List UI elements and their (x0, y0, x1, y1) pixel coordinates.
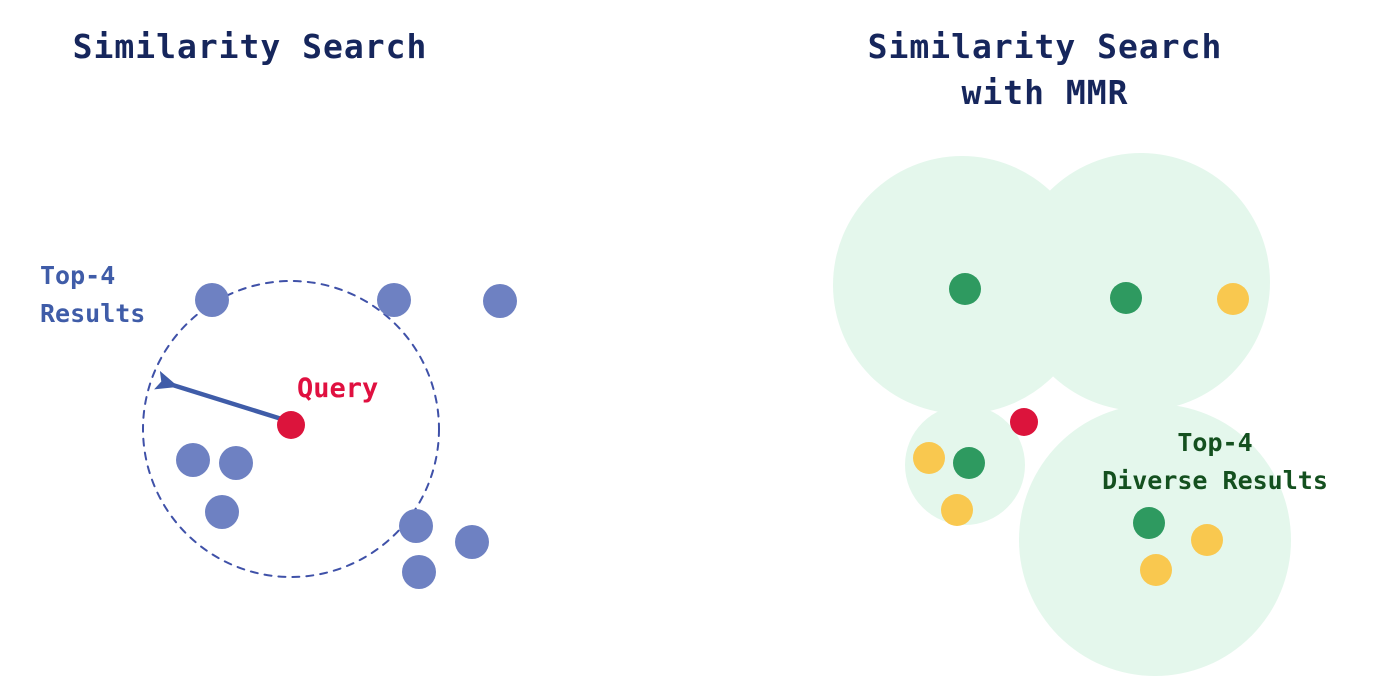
panel-title-similarity-search: Similarity Search (0, 24, 500, 70)
radius-arrow (163, 382, 288, 421)
document-point (205, 495, 239, 529)
label-query: Query (297, 372, 378, 406)
diagram-canvas: Similarity Search Similarity Search with… (0, 0, 1400, 687)
document-point-yellow (1217, 283, 1249, 315)
document-point (399, 509, 433, 543)
document-point-yellow (913, 442, 945, 474)
document-point-yellow (1191, 524, 1223, 556)
document-point-green (949, 273, 981, 305)
label-top-4-diverse-results: Top-4 Diverse Results (1060, 424, 1370, 500)
label-top-4-results: Top-4 Results (40, 257, 230, 333)
document-point (402, 555, 436, 589)
panel-title-similarity-search-mmr: Similarity Search with MMR (795, 24, 1295, 116)
document-point-yellow (1140, 554, 1172, 586)
cluster-blob-top-right (1012, 153, 1270, 411)
document-point (176, 443, 210, 477)
document-point-green (953, 447, 985, 479)
document-point-yellow (941, 494, 973, 526)
document-point-green (1110, 282, 1142, 314)
query-point-right (1010, 408, 1038, 436)
query-point-left (277, 411, 305, 439)
document-point (455, 525, 489, 559)
document-point (377, 283, 411, 317)
document-point (219, 446, 253, 480)
document-point (483, 284, 517, 318)
mmr-cluster-group (833, 153, 1291, 676)
document-point-green (1133, 507, 1165, 539)
